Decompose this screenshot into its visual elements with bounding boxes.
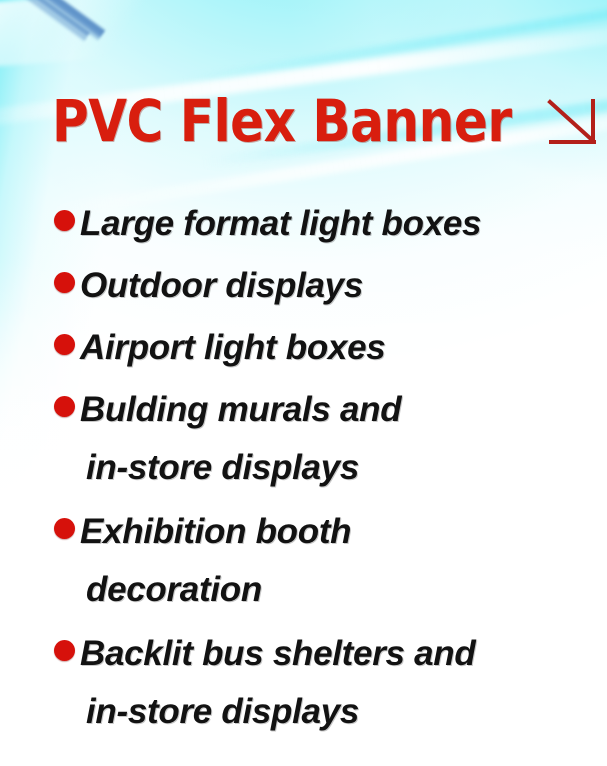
list-item-wrap-line: decoration (54, 560, 594, 620)
list-item: Exhibition booth decoration (54, 504, 594, 620)
list-item-primary-line: Outdoor displays (54, 258, 594, 314)
list-item-label: Large format light boxes (80, 196, 481, 252)
list-item-primary-line: Backlit bus shelters and (54, 626, 594, 682)
list-item: Outdoor displays (54, 258, 594, 314)
page-title: PVC Flex Banner (52, 92, 512, 150)
list-item-label: Outdoor displays (80, 258, 363, 314)
title-row: PVC Flex Banner (52, 90, 601, 151)
list-item-label: Airport light boxes (80, 320, 385, 376)
list-item-wrap-line: in-store displays (54, 438, 594, 498)
list-item-label: Backlit bus shelters and (80, 626, 475, 682)
list-item: Airport light boxes (54, 320, 594, 376)
red-dot-bullet-icon (54, 272, 75, 293)
list-item-label: Bulding murals and (80, 382, 401, 438)
list-item-wrap-line: in-store displays (54, 682, 594, 742)
list-item-label: Exhibition booth (80, 504, 351, 560)
red-dot-bullet-icon (54, 518, 75, 539)
list-item-primary-line: Exhibition booth (54, 504, 594, 560)
red-dot-bullet-icon (54, 210, 75, 231)
list-item: Large format light boxes (54, 196, 594, 252)
poster-canvas: PVC Flex Banner Large format light boxes (0, 0, 607, 766)
list-item-primary-line: Large format light boxes (54, 196, 594, 252)
arrow-down-right-icon (547, 98, 601, 151)
red-dot-bullet-icon (54, 640, 75, 661)
list-item: Backlit bus shelters and in-store displa… (54, 626, 594, 742)
list-item-primary-line: Airport light boxes (54, 320, 594, 376)
list-item: Bulding murals and in-store displays (54, 382, 594, 498)
red-dot-bullet-icon (54, 396, 75, 417)
list-item-primary-line: Bulding murals and (54, 382, 594, 438)
feature-list: Large format light boxes Outdoor display… (54, 196, 594, 748)
red-dot-bullet-icon (54, 334, 75, 355)
